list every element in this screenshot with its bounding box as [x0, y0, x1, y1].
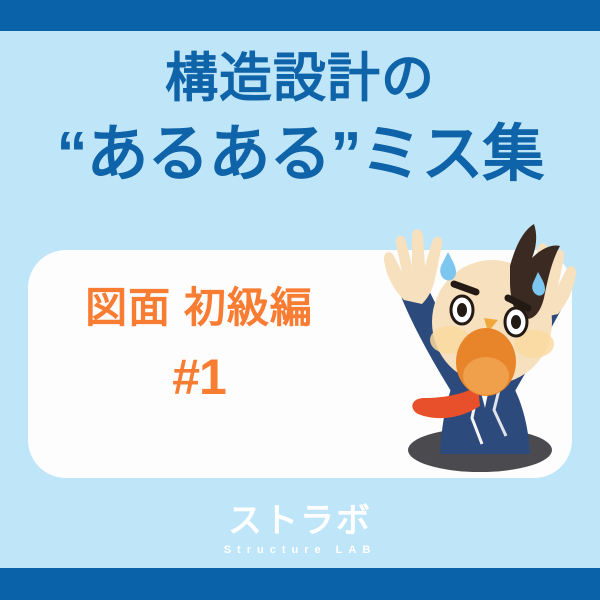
- thumbnail-canvas: 構造設計の “あるある”ミス集 図面 初級編 #1: [0, 0, 600, 600]
- sweat-drop-left-shape: [440, 252, 456, 281]
- card-subtitle: 図面 初級編: [34, 282, 364, 334]
- headline-line-2: “あるある”ミス集: [0, 118, 600, 192]
- brand-logo-mark: ストラボ: [0, 502, 600, 540]
- bottom-brand-bar: [0, 568, 600, 600]
- brand-logo: ストラボ Structure LAB: [0, 502, 600, 558]
- headline-line-1: 構造設計の: [0, 48, 600, 110]
- shocked-businessman-illustration: [352, 222, 600, 480]
- right-pupil-shape: [511, 315, 521, 329]
- tongue-shape: [463, 357, 509, 395]
- top-brand-bar: [0, 0, 600, 31]
- card-episode-number: #1: [34, 346, 364, 408]
- brand-logo-tagline: Structure LAB: [0, 542, 600, 558]
- left-pupil-shape: [457, 303, 467, 317]
- left-hand-shape: [384, 229, 442, 304]
- card-text-block: 図面 初級編 #1: [34, 282, 364, 408]
- headline: 構造設計の “あるある”ミス集: [0, 48, 600, 192]
